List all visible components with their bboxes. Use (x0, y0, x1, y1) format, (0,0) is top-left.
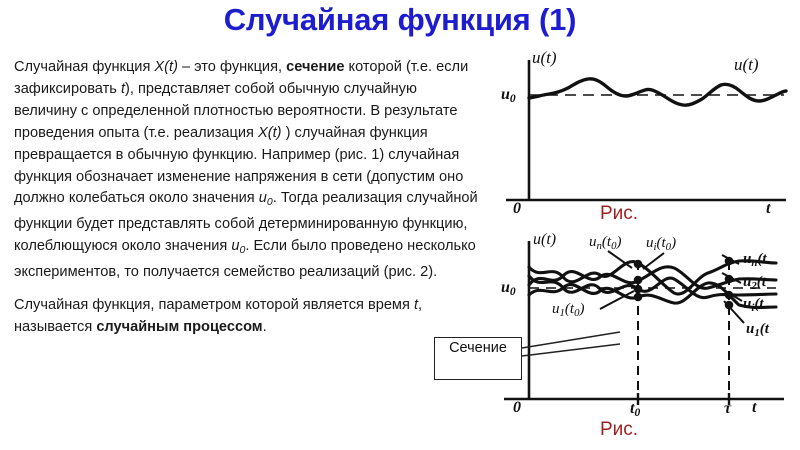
figure-2-tick-label-t0: t0 (630, 400, 640, 419)
figure-2-label-ui-t0: ui(t0) (646, 235, 676, 253)
figure-1-x-axis-label: t (766, 200, 770, 218)
body-text: Случайная функция X(t) – это функция, се… (14, 57, 482, 339)
figure-2-x-axis-label: t (752, 399, 756, 417)
figure-2: u(t) u0 un(t0) ui(t0) u1(t0) un(t u2(t u… (496, 233, 796, 418)
figure-2-tick-label-tau: τ (724, 400, 731, 418)
figure-2-right-label-ui: ui(t (743, 296, 764, 314)
callout-connector (520, 330, 630, 370)
paragraph-1: Случайная функция X(t) – это функция, се… (14, 57, 482, 284)
figure-1-y-axis-label: u(t) (532, 48, 557, 68)
figure-2-leader-un (608, 251, 632, 268)
figure-2-red-mark (584, 233, 588, 250)
figure-1-caption: Рис. (600, 203, 638, 225)
figure-1-curve (529, 79, 786, 105)
figure-2-dot-u2-t0 (634, 276, 643, 285)
figure-2-leaders (600, 251, 664, 309)
figure-2-caption: Рис. (600, 419, 638, 441)
figure-2-dot-un-t0 (634, 260, 643, 269)
slide-root: Случайная функция (1) Случайная функция … (0, 0, 800, 450)
figure-1-origin-label: 0 (513, 200, 521, 218)
callout-box: Сечение (434, 337, 522, 380)
figure-2-y-axis-label: u(t) (533, 231, 556, 249)
figure-2-dot-u1-t0 (634, 293, 643, 302)
figure-1-level-label: u0 (501, 86, 516, 105)
figure-2-level-label: u0 (501, 279, 516, 298)
figure-2-label-un-t0: un(t0) (589, 234, 621, 252)
figure-2-right-label-u2: u2(t (743, 274, 766, 292)
page-title: Случайная функция (1) (0, 2, 800, 38)
figure-2-right-label-un: un(t (743, 251, 767, 269)
figure-2-label-u1-t0: u1(t0) (552, 301, 584, 319)
figure-2-origin-label: 0 (513, 399, 521, 417)
figure-1: u(t) u(t) u0 0 t Рис. (496, 48, 796, 223)
figure-1-curve-label: u(t) (734, 55, 759, 75)
figure-2-right-label-u1: u1(t (746, 321, 769, 339)
figure-2-dot-ui-t0 (634, 285, 643, 294)
paragraph-2: Случайная функция, параметром которой яв… (14, 295, 482, 339)
